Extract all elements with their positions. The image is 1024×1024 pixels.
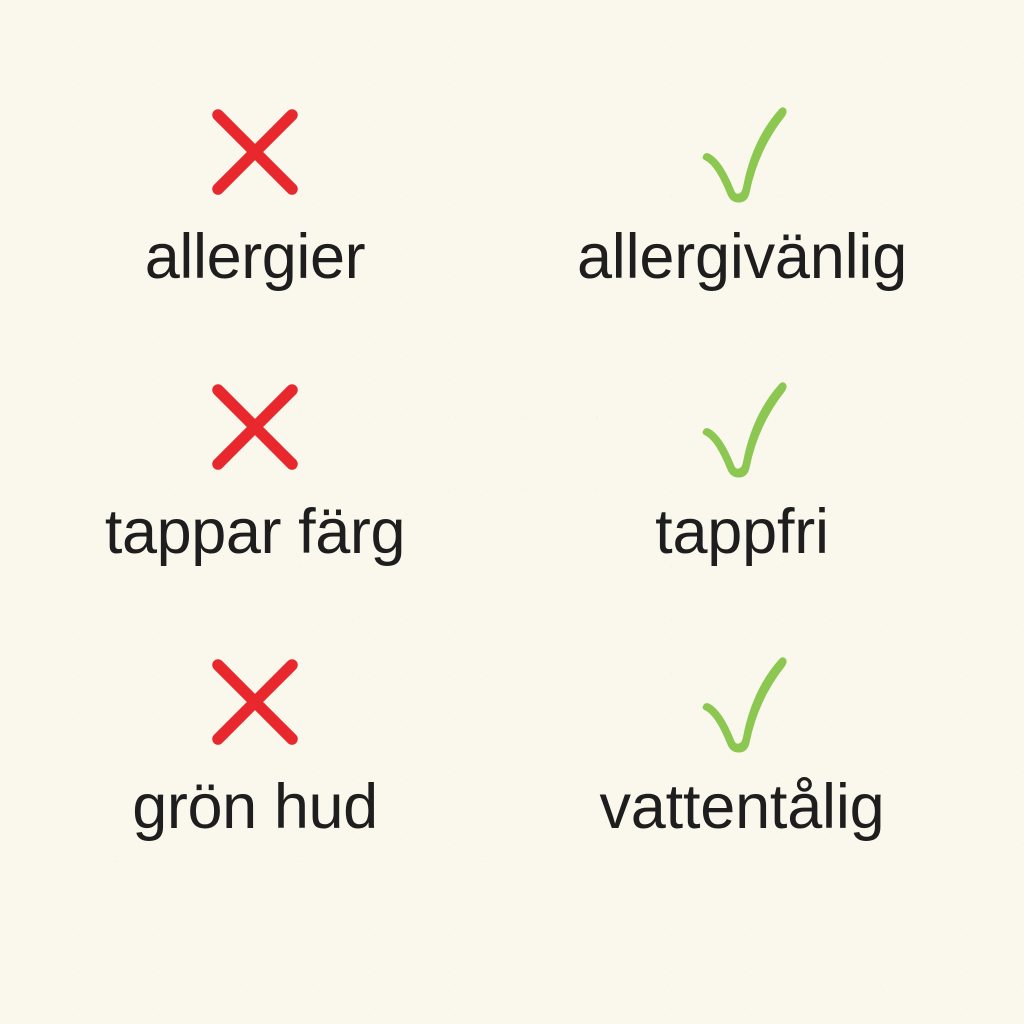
comparison-item-positive-2: tappfri <box>507 371 977 565</box>
cross-icon <box>199 96 311 208</box>
comparison-item-negative-1: allergier <box>20 96 490 290</box>
comparison-label: tappar färg <box>105 499 405 565</box>
checkmark-icon <box>686 646 798 758</box>
comparison-item-positive-3: vattentålig <box>507 646 977 840</box>
comparison-item-positive-1: allergivänlig <box>507 96 977 290</box>
comparison-label: grön hud <box>132 774 378 840</box>
comparison-label: tappfri <box>655 499 829 565</box>
comparison-label: allergier <box>145 224 366 290</box>
checkmark-icon <box>686 371 798 483</box>
checkmark-icon <box>686 96 798 208</box>
cross-icon <box>199 646 311 758</box>
comparison-board: allergier allergivänlig tappar fä <box>0 0 1024 1024</box>
cross-icon <box>199 371 311 483</box>
comparison-label: allergivänlig <box>577 224 907 290</box>
comparison-label: vattentålig <box>600 774 885 840</box>
comparison-item-negative-2: tappar färg <box>20 371 490 565</box>
comparison-item-negative-3: grön hud <box>20 646 490 840</box>
comparison-grid: allergier allergivänlig tappar fä <box>0 0 1024 1024</box>
